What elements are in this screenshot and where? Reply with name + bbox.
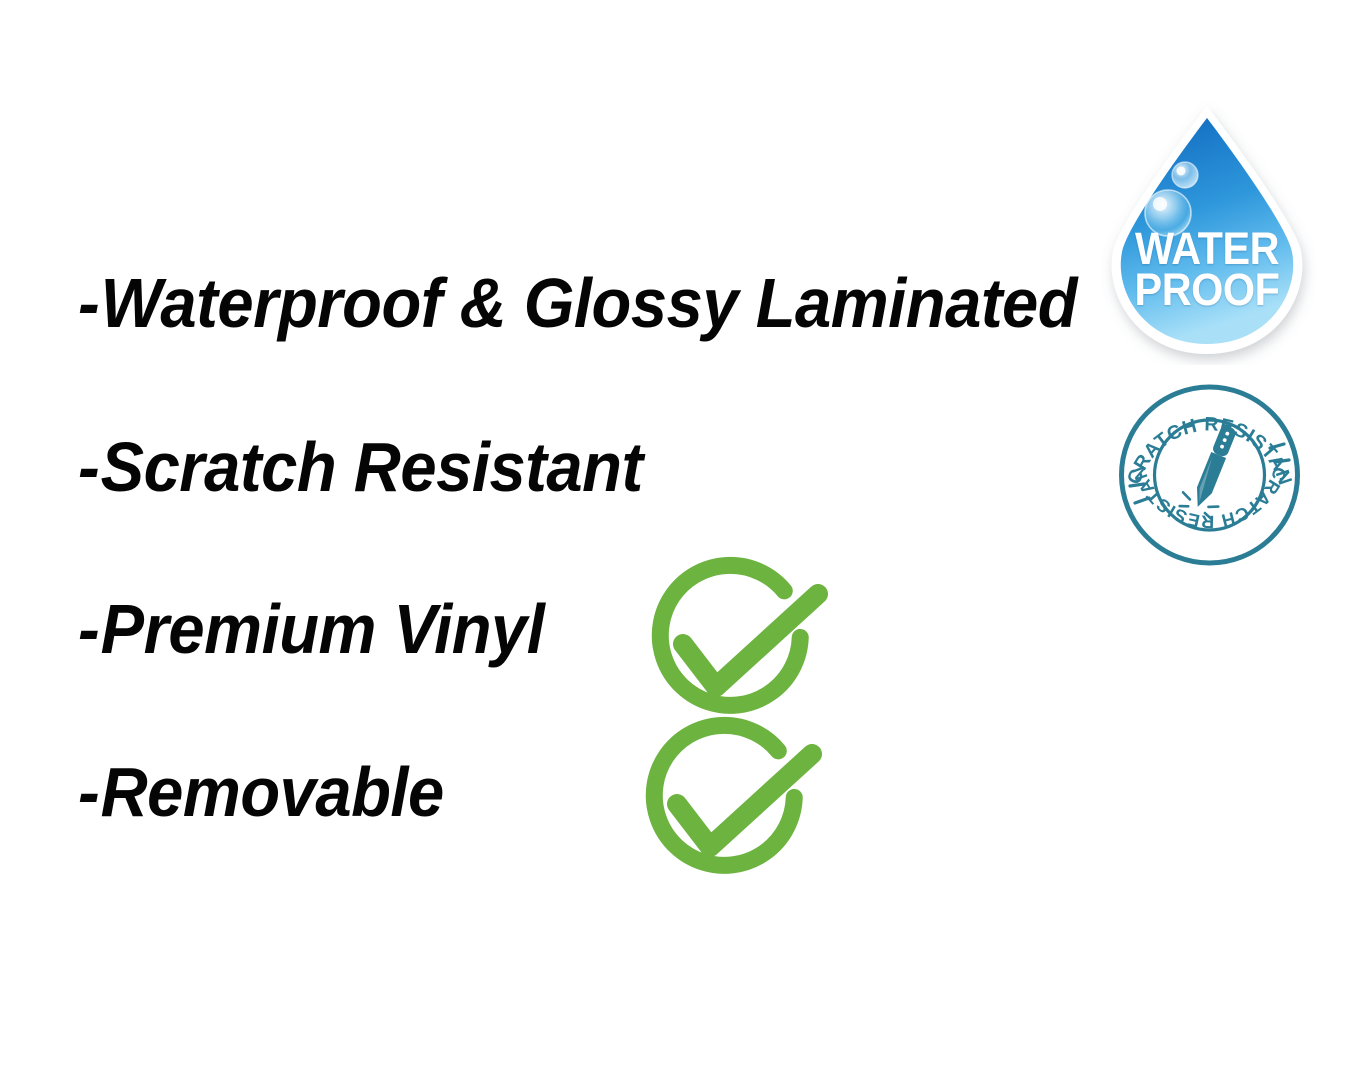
check-circle-icon [632, 708, 832, 908]
feature-item-premium-vinyl: -Premium Vinyl [78, 594, 544, 664]
feature-label: Removable [101, 753, 444, 831]
feature-label: Premium Vinyl [101, 590, 545, 668]
feature-label: Waterproof & Glossy Laminated [101, 264, 1077, 342]
feature-bullet-dash: - [78, 264, 101, 342]
feature-item-removable: -Removable [78, 757, 444, 827]
feature-bullet-dash: - [78, 590, 101, 668]
product-features-panel: -Waterproof & Glossy Laminated -Scratch … [0, 0, 1359, 1080]
feature-label: Scratch Resistant [101, 428, 643, 506]
feature-bullet-dash: - [78, 428, 101, 506]
feature-bullet-dash: - [78, 753, 101, 831]
feature-item-waterproof-glossy-laminated: -Waterproof & Glossy Laminated [78, 268, 1077, 338]
scratch-resistant-badge: SCRATCH RESISTANT SCRATCH RESISTANT [1112, 380, 1307, 570]
feature-item-scratch-resistant: -Scratch Resistant [78, 432, 643, 502]
waterproof-badge: WATER PROOF [1098, 100, 1316, 365]
